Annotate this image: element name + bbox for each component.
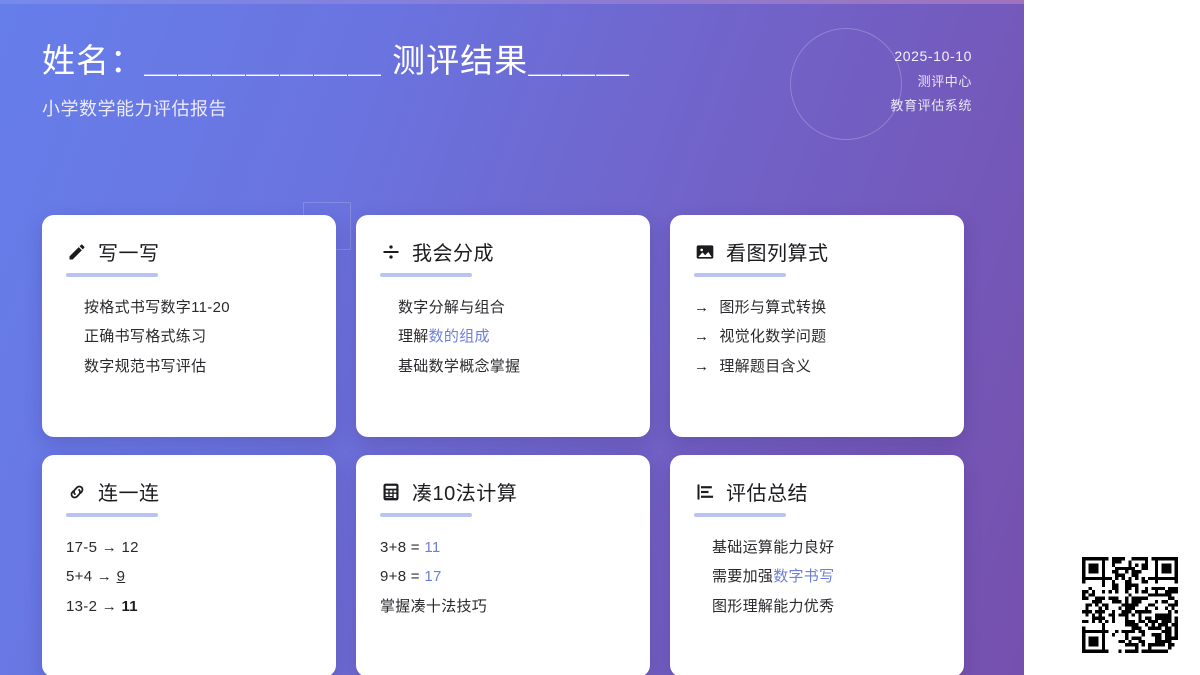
card-title: 我会分成 (412, 237, 494, 266)
meta-date: 2025-10-10 (890, 44, 972, 70)
card-item: 基础数学概念掌握 (380, 352, 626, 381)
card-item: 图形理解能力优秀 (694, 592, 940, 621)
card-item: 9+8 = 17 (380, 562, 626, 591)
bar-chart-icon (694, 481, 716, 503)
card[interactable]: 凑10法计算3+8 = 119+8 = 17掌握凑十法技巧 (356, 455, 650, 675)
card-item: 数字分解与组合 (380, 293, 626, 322)
card-header: 凑10法计算 (380, 477, 626, 506)
arrow-icon: → (694, 293, 709, 322)
card-body: 按格式书写数字11-20正确书写格式练习数字规范书写评估 (66, 293, 312, 381)
card-item: 正确书写格式练习 (66, 322, 312, 351)
card-item-text: 理解 (398, 328, 429, 345)
card-item-text: 9+8 = (380, 568, 424, 585)
card-item-text: 基础数学概念掌握 (398, 358, 520, 375)
card-item: →理解题目含义 (694, 352, 940, 381)
card-title: 写一写 (98, 237, 160, 266)
card-title-underline (380, 273, 472, 277)
card-item-text: 视觉化数学问题 (719, 322, 826, 351)
highlighted-text: 数字书写 (773, 568, 834, 585)
card-title: 凑10法计算 (412, 477, 517, 506)
card-item: 基础运算能力良好 (694, 533, 940, 562)
card[interactable]: 我会分成数字分解与组合理解数的组成基础数学概念掌握 (356, 215, 650, 437)
card[interactable]: 写一写按格式书写数字11-20正确书写格式练习数字规范书写评估 (42, 215, 336, 437)
slide-meta: 2025-10-10 测评中心 教育评估系统 (890, 44, 972, 118)
card-header: 我会分成 (380, 237, 626, 266)
card-item-text: 理解题目含义 (719, 352, 811, 381)
link-icon (66, 481, 88, 503)
slide-background: 姓名：＿＿＿＿＿＿＿ 测评结果＿＿＿ 小学数学能力评估报告 2025-10-10… (0, 0, 1024, 675)
decorative-circle (790, 28, 902, 140)
slide-header: 姓名：＿＿＿＿＿＿＿ 测评结果＿＿＿ 小学数学能力评估报告 (42, 40, 630, 121)
card-item-text: 5+4 → (66, 568, 117, 585)
pencil-icon (66, 241, 88, 263)
card-title-underline (694, 513, 786, 517)
card-item: 3+8 = 11 (380, 533, 626, 562)
card-item: →图形与算式转换 (694, 293, 940, 322)
card-item-text: 数字分解与组合 (398, 299, 505, 316)
card-item: 需要加强数字书写 (694, 562, 940, 591)
highlighted-text: 数的组成 (429, 328, 490, 345)
card-header: 连一连 (66, 477, 312, 506)
card-title-underline (66, 513, 158, 517)
page-title: 姓名：＿＿＿＿＿＿＿ 测评结果＿＿＿ (42, 40, 630, 81)
card[interactable]: 评估总结基础运算能力良好需要加强数字书写图形理解能力优秀 (670, 455, 964, 675)
card[interactable]: 连一连17-5 → 125+4 → 913-2 → 11 (42, 455, 336, 675)
image-icon (694, 241, 716, 263)
card-title: 看图列算式 (726, 237, 829, 266)
card-item-text: 3+8 = (380, 539, 424, 556)
card-header: 写一写 (66, 237, 312, 266)
card-item-text: 需要加强 (712, 568, 773, 585)
card-item-text: 17-5 → 12 (66, 539, 139, 556)
qr-code[interactable] (1082, 557, 1178, 653)
card-item: 13-2 → 11 (66, 592, 312, 621)
equation-result: 17 (424, 568, 441, 585)
card-item: 5+4 → 9 (66, 562, 312, 591)
slide-top-accent-bar (0, 0, 1024, 4)
card-body: →图形与算式转换→视觉化数学问题→理解题目含义 (694, 293, 940, 381)
card-body: 数字分解与组合理解数的组成基础数学概念掌握 (380, 293, 626, 381)
card-header: 评估总结 (694, 477, 940, 506)
card-header: 看图列算式 (694, 237, 940, 266)
arrow-icon: → (694, 322, 709, 351)
card-title: 连一连 (98, 477, 160, 506)
card-title-underline (66, 273, 158, 277)
card-item-text: 掌握凑十法技巧 (380, 598, 487, 615)
page-subtitle: 小学数学能力评估报告 (42, 95, 630, 121)
slide-canvas: 姓名：＿＿＿＿＿＿＿ 测评结果＿＿＿ 小学数学能力评估报告 2025-10-10… (0, 0, 1200, 675)
card-item-text: 图形与算式转换 (719, 293, 826, 322)
card-item: 数字规范书写评估 (66, 352, 312, 381)
card-item-text: 图形理解能力优秀 (712, 598, 834, 615)
calculator-icon (380, 481, 402, 503)
card-body: 3+8 = 119+8 = 17掌握凑十法技巧 (380, 533, 626, 621)
card-grid: 写一写按格式书写数字11-20正确书写格式练习数字规范书写评估我会分成数字分解与… (42, 215, 982, 675)
equation-result: 11 (424, 539, 440, 556)
card-title-underline (694, 273, 786, 277)
card-item-text: 13-2 → (66, 598, 121, 615)
arrow-icon: → (694, 352, 709, 381)
underlined-answer: 9 (117, 568, 126, 585)
meta-org: 测评中心 (890, 70, 972, 94)
card-title: 评估总结 (726, 477, 808, 506)
card-item: 掌握凑十法技巧 (380, 592, 626, 621)
card[interactable]: 看图列算式→图形与算式转换→视觉化数学问题→理解题目含义 (670, 215, 964, 437)
card-item-text: 按格式书写数字11-20 (84, 299, 230, 316)
card-title-underline (380, 513, 472, 517)
card-item: 17-5 → 12 (66, 533, 312, 562)
card-body: 17-5 → 125+4 → 913-2 → 11 (66, 533, 312, 621)
card-item: 理解数的组成 (380, 322, 626, 351)
meta-system: 教育评估系统 (890, 94, 972, 118)
card-item: →视觉化数学问题 (694, 322, 940, 351)
bold-answer: 11 (121, 598, 137, 615)
card-item-text: 正确书写格式练习 (84, 328, 206, 345)
card-item-text: 基础运算能力良好 (712, 539, 834, 556)
divide-icon (380, 241, 402, 263)
card-item: 按格式书写数字11-20 (66, 293, 312, 322)
card-body: 基础运算能力良好需要加强数字书写图形理解能力优秀 (694, 533, 940, 621)
card-item-text: 数字规范书写评估 (84, 358, 206, 375)
